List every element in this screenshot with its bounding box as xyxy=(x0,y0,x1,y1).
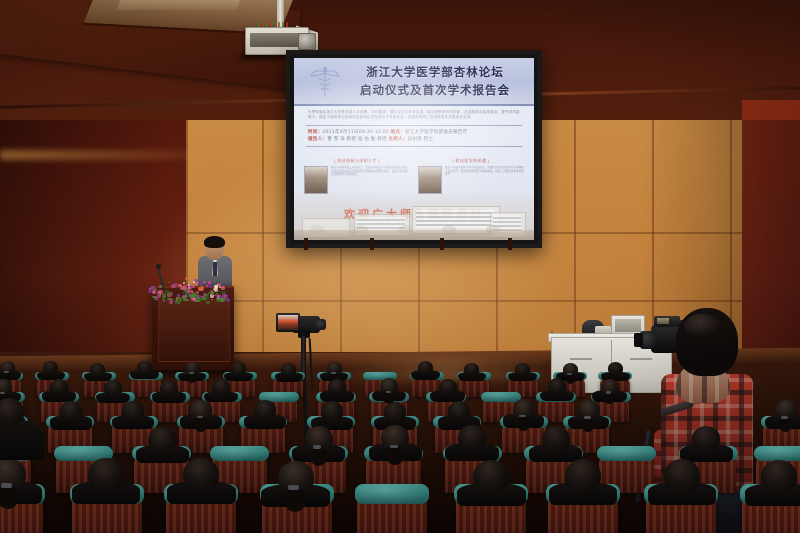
head xyxy=(231,362,246,375)
hair-tie xyxy=(189,372,194,374)
ponytail xyxy=(566,373,575,383)
head xyxy=(448,401,470,421)
ponytail xyxy=(386,445,403,465)
hair-tie xyxy=(390,445,398,449)
hair-tie xyxy=(386,391,391,393)
head xyxy=(664,459,700,491)
hair-tie xyxy=(331,372,336,374)
head xyxy=(328,379,346,395)
head xyxy=(439,379,457,395)
head xyxy=(122,401,144,421)
head xyxy=(88,458,124,490)
head xyxy=(148,427,176,452)
head xyxy=(608,362,623,375)
hair-highlight xyxy=(684,314,722,338)
head xyxy=(212,379,230,395)
head xyxy=(458,425,486,450)
seat-cushion xyxy=(355,484,429,504)
hair-tie xyxy=(313,445,321,449)
viewfinder-glass xyxy=(657,318,669,324)
hair-tie xyxy=(0,392,5,394)
seat-cushion xyxy=(597,446,656,461)
head xyxy=(515,363,530,376)
hair-tie xyxy=(4,371,9,373)
seat-cushion xyxy=(481,392,521,402)
hair-tie xyxy=(567,373,572,375)
head xyxy=(692,426,720,451)
hair-tie xyxy=(1,483,12,487)
head xyxy=(321,401,343,421)
head xyxy=(0,398,24,426)
head xyxy=(50,379,68,395)
head xyxy=(548,378,566,394)
head xyxy=(542,426,570,451)
shoulders xyxy=(0,420,44,460)
seat-cushion xyxy=(210,446,269,461)
hair-tie xyxy=(584,416,591,419)
head xyxy=(761,460,797,492)
head xyxy=(384,402,406,422)
ponytail xyxy=(284,486,306,512)
hair-tie xyxy=(606,391,611,393)
hair-tie xyxy=(519,415,526,418)
hair-tie xyxy=(781,416,788,419)
head xyxy=(160,380,178,396)
head xyxy=(473,460,509,492)
head xyxy=(254,400,276,420)
ponytail xyxy=(194,416,208,432)
audience xyxy=(0,0,800,533)
head xyxy=(183,458,219,490)
head xyxy=(43,361,58,374)
lens-hood xyxy=(634,333,643,347)
head xyxy=(281,363,296,376)
ponytail xyxy=(187,373,196,383)
head xyxy=(565,459,601,491)
head xyxy=(137,361,152,374)
head xyxy=(418,361,433,374)
head xyxy=(60,401,82,421)
head xyxy=(464,363,479,376)
hair-tie xyxy=(288,485,299,489)
lecture-hall-photo: 浙江大学医学部杏林论坛 启动仪式及首次学术报告会 为贯彻落实浙江大学医学部人才培… xyxy=(0,0,800,533)
head xyxy=(104,380,122,396)
seat-cushion xyxy=(754,446,800,461)
head xyxy=(90,363,105,376)
ponytail xyxy=(517,415,531,431)
ponytail xyxy=(310,446,327,466)
